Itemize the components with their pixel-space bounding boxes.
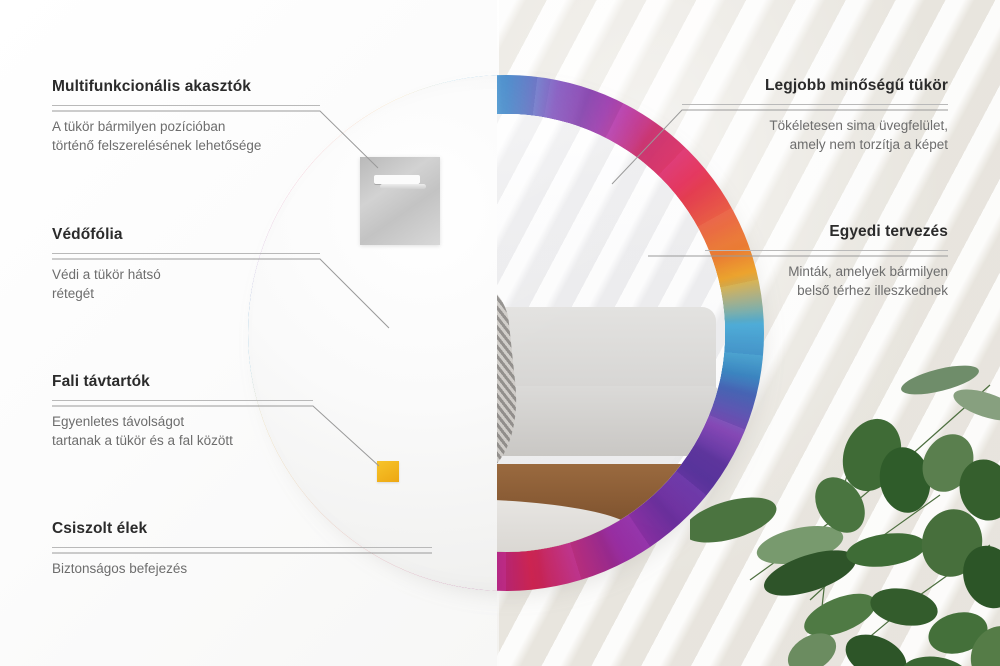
callout-wall-spacers: Fali távtartók Egyenletes távolságottart… (52, 373, 313, 450)
callout-title: Csiszolt élek (52, 520, 432, 538)
callout-unique-design: Egyedi tervezés Minták, amelyek bármilye… (705, 223, 948, 300)
callout-rule (705, 250, 948, 251)
callout-title: Multifunkcionális akasztók (52, 78, 320, 96)
foreground-foliage (690, 345, 1000, 666)
callout-title: Egyedi tervezés (705, 223, 948, 241)
callout-rule (52, 400, 313, 401)
callout-title: Védőfólia (52, 226, 320, 244)
callout-description: Biztonságos befejezés (52, 559, 432, 578)
callout-description: A tükör bármilyen pozícióbantörténő fels… (52, 117, 320, 155)
callout-description: Egyenletes távolságottartanak a tükör és… (52, 412, 313, 450)
callout-best-quality-mirror: Legjobb minőségű tükör Tökéletesen sima … (682, 77, 948, 154)
wall-spacer (377, 461, 399, 482)
callout-rule (52, 253, 320, 254)
callout-description: Védi a tükör hátsórétegét (52, 265, 320, 303)
callout-title: Legjobb minőségű tükör (682, 77, 948, 95)
callout-title: Fali távtartók (52, 373, 313, 391)
hanger-keyhole-slot (374, 175, 420, 184)
callout-multifunctional-hangers: Multifunkcionális akasztók A tükör bármi… (52, 78, 320, 155)
infographic-canvas: Multifunkcionális akasztók A tükör bármi… (0, 0, 1000, 666)
callout-description: Tökéletesen sima üvegfelület,amely nem t… (682, 116, 948, 154)
callout-rule (682, 104, 948, 105)
callout-polished-edges: Csiszolt élek Biztonságos befejezés (52, 520, 432, 578)
hanger-slot-shadow (380, 184, 426, 189)
callout-rule (52, 105, 320, 106)
callout-description: Minták, amelyek bármilyenbelső térhez il… (705, 262, 948, 300)
callout-protective-film: Védőfólia Védi a tükör hátsórétegét (52, 226, 320, 303)
hanger-plate (360, 157, 440, 245)
callout-rule (52, 547, 432, 548)
